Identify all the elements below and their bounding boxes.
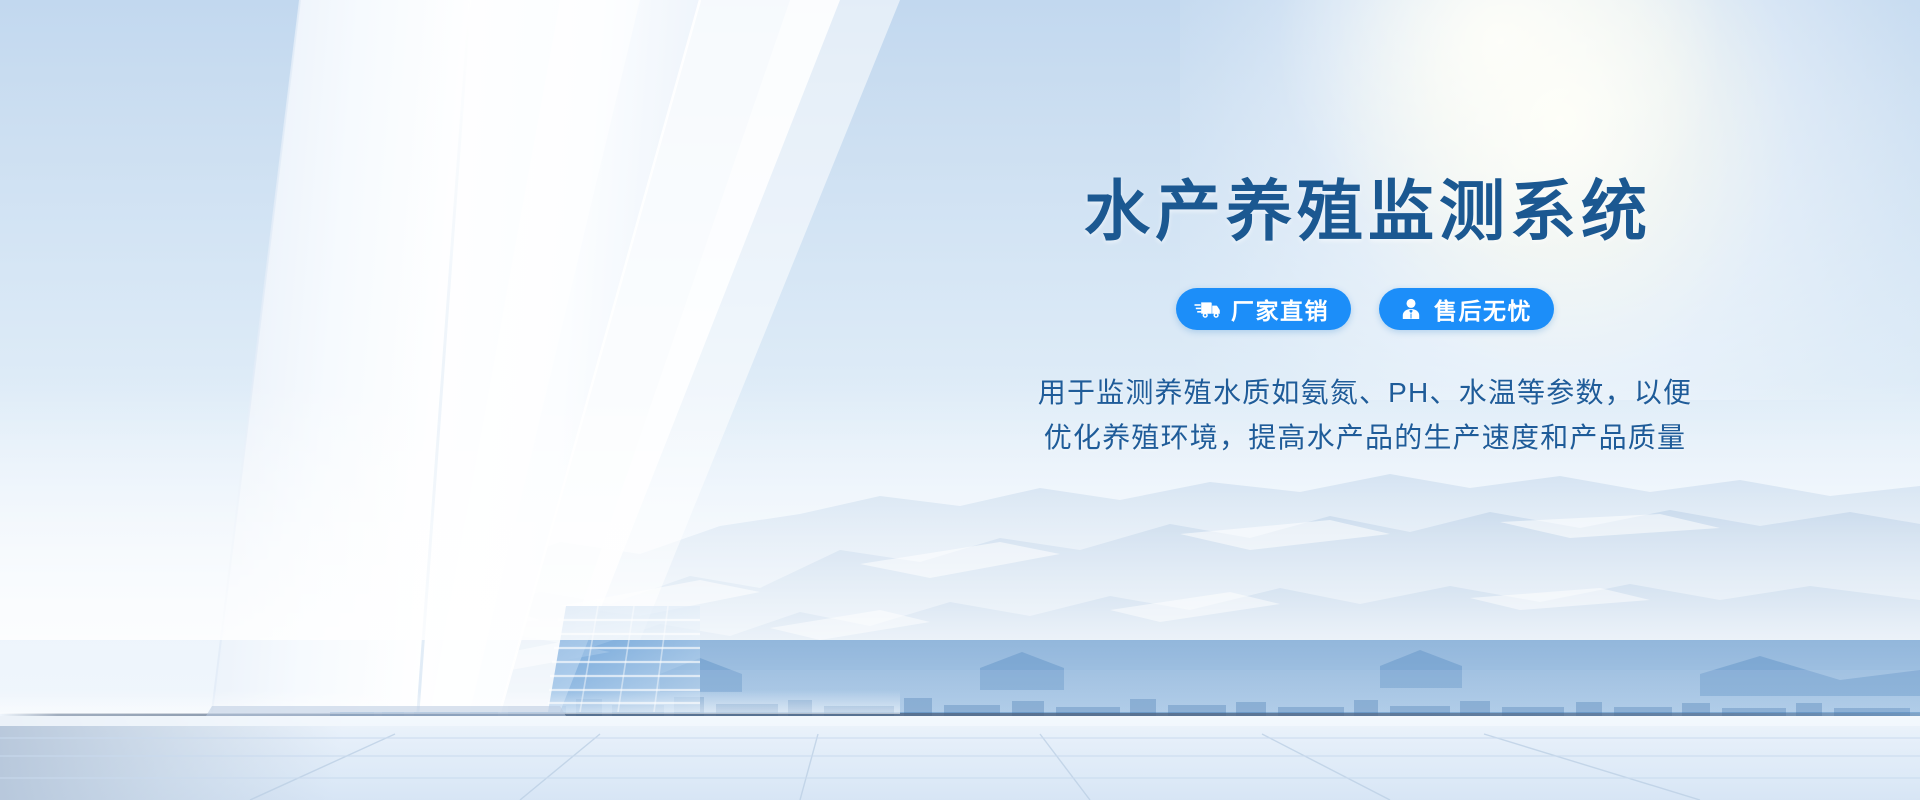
badge-factory-direct[interactable]: 厂家直销 xyxy=(1176,288,1351,330)
support-agent-icon xyxy=(1397,296,1425,322)
page-title: 水产养殖监测系统 xyxy=(1084,178,1652,244)
description-line-1: 用于监测养殖水质如氨氮、PH、水温等参数，以便 xyxy=(1038,370,1693,415)
badge-after-sales[interactable]: 售后无忧 xyxy=(1379,288,1554,330)
badge-factory-direct-label: 厂家直销 xyxy=(1231,292,1329,326)
hero-banner: 水产养殖监测系统 xyxy=(0,0,1920,800)
description-line-2: 优化养殖环境，提高水产品的生产速度和产品质量 xyxy=(1038,415,1693,460)
truck-icon xyxy=(1194,296,1222,322)
badge-after-sales-label: 售后无忧 xyxy=(1434,292,1532,326)
badge-group: 厂家直销 售后无忧 xyxy=(1176,288,1554,330)
banner-content: 水产养殖监测系统 xyxy=(860,0,1870,800)
banner-description: 用于监测养殖水质如氨氮、PH、水温等参数，以便 优化养殖环境，提高水产品的生产速… xyxy=(1038,370,1693,461)
